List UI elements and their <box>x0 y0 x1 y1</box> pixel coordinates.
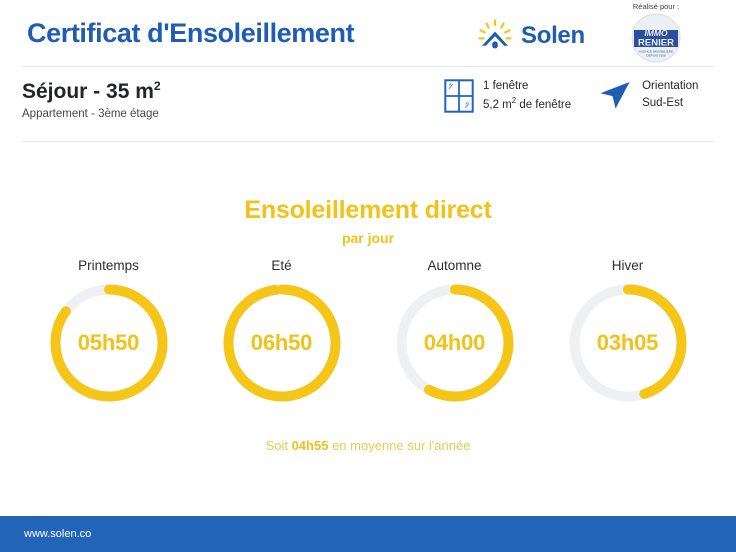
section-title: Ensoleillement direct <box>0 196 736 225</box>
gauge-value: 04h00 <box>392 280 518 406</box>
fact-windows: 1 fenêtre5,2 m2 de fenêtre <box>444 78 571 113</box>
section-subtitle: par jour <box>0 230 736 246</box>
footer-url[interactable]: www.solen.co <box>24 528 91 540</box>
room-area-exponent: 2 <box>154 79 161 93</box>
room-facts: 1 fenêtre5,2 m2 de fenêtre OrientationSu… <box>444 78 698 113</box>
gauge-value: 03h05 <box>565 280 691 406</box>
gauge-automne: Automne 04h00 <box>392 258 518 406</box>
average-prefix: Soit <box>266 438 292 453</box>
gauge-label: Printemps <box>78 258 139 273</box>
sun-house-icon <box>478 19 512 52</box>
fact-orientation-label: Orientation <box>642 80 698 92</box>
average-value: 04h55 <box>292 438 329 453</box>
gauge-hiver: Hiver 03h05 <box>565 258 691 406</box>
gauge-ring: 04h00 <box>392 280 518 406</box>
solen-brand: Solen <box>478 19 585 52</box>
svg-text:DEPUIS 1958: DEPUIS 1958 <box>646 54 666 58</box>
gauge-ring: 03h05 <box>565 280 691 406</box>
room-summary: Séjour - 35 m2 Appartement - 3ème étage <box>22 80 161 120</box>
compass-arrow-icon <box>597 80 633 110</box>
fact-windows-area-suffix: de fenêtre <box>516 99 571 111</box>
page-footer: www.solen.co <box>0 516 736 552</box>
gauge-ring: 05h50 <box>46 280 172 406</box>
sunlight-gauges: Printemps 05h50 Eté 06h50 Automne <box>0 258 736 406</box>
room-title: Séjour - 35 m2 <box>22 80 161 103</box>
gauge-ring: 06h50 <box>219 280 345 406</box>
page-header: Certificat d'Ensoleillement <box>0 0 736 66</box>
fact-windows-area-prefix: 5,2 m <box>483 99 512 111</box>
header-divider <box>22 66 714 67</box>
gauge-value: 06h50 <box>219 280 345 406</box>
gauge-ete: Eté 06h50 <box>219 258 345 406</box>
fact-orientation-text: OrientationSud-Est <box>642 78 698 111</box>
window-icon <box>444 79 474 113</box>
room-subtitle: Appartement - 3ème étage <box>22 108 161 120</box>
fact-orientation: OrientationSud-Est <box>597 78 698 111</box>
room-title-text: Séjour - 35 m <box>22 80 154 103</box>
svg-text:IMMO: IMMO <box>644 28 668 38</box>
average-suffix: en moyenne sur l'année <box>328 438 470 453</box>
immo-renier-logo: IMMO RENIER AGENCE IMMOBILIERE DEPUIS 19… <box>631 13 681 63</box>
fact-windows-count: 1 fenêtre <box>483 80 528 92</box>
certificate-page: Certificat d'Ensoleillement <box>0 0 736 552</box>
svg-text:RENIER: RENIER <box>638 38 674 49</box>
average-note: Soit 04h55 en moyenne sur l'année <box>0 438 736 453</box>
partner-block: Réalisé pour : IMMO RENIER AGENCE IMMOBI… <box>604 3 708 63</box>
gauge-value: 05h50 <box>46 280 172 406</box>
gauge-printemps: Printemps 05h50 <box>46 258 172 406</box>
brand-name: Solen <box>521 24 585 48</box>
gauge-label: Hiver <box>612 258 644 273</box>
gauge-label: Automne <box>427 258 481 273</box>
room-divider <box>22 141 714 142</box>
page-title: Certificat d'Ensoleillement <box>27 18 354 49</box>
gauge-label: Eté <box>271 258 291 273</box>
fact-orientation-value: Sud-Est <box>642 97 683 109</box>
fact-windows-text: 1 fenêtre5,2 m2 de fenêtre <box>483 78 571 113</box>
partner-label: Réalisé pour : <box>604 3 708 11</box>
